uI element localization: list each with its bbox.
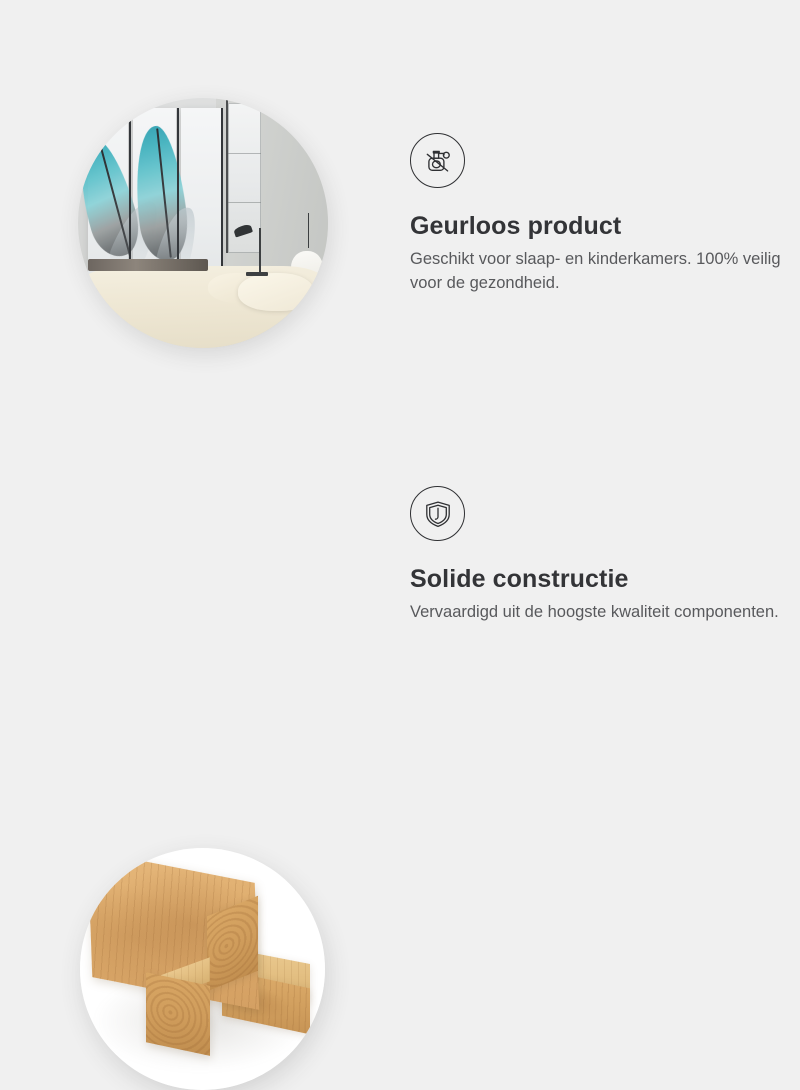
wood-block-small-front [146, 972, 210, 1056]
window-frame [226, 98, 228, 253]
shield-icon [410, 486, 465, 541]
feature-title: Geurloos product [410, 212, 800, 241]
wood-grain-surface [146, 972, 210, 1056]
panel-edge-3 [221, 108, 223, 288]
feature-media [0, 400, 400, 800]
feature-title: Solide constructie [410, 565, 800, 594]
bedroom-photo-content [78, 98, 328, 348]
pillow-front [238, 273, 313, 311]
feature-media [0, 0, 400, 400]
no-fragrance-icon [410, 133, 465, 188]
feature-row: Geurloos product Geschikt voor slaap- en… [0, 0, 800, 400]
feature-row: Solide constructie Vervaardigd uit de ho… [0, 400, 800, 800]
wall-lamp-stem [308, 213, 310, 248]
desk-lamp-base [246, 272, 269, 276]
desk-lamp-arm [259, 228, 261, 273]
product-features-page: Geurloos product Geschikt voor slaap- en… [0, 0, 800, 800]
feature-text-block: Geurloos product Geschikt voor slaap- en… [400, 0, 800, 295]
bedroom-with-teal-feather-wall-art-image [78, 98, 328, 348]
feature-text-block: Solide constructie Vervaardigd uit de ho… [400, 400, 800, 624]
feature-description: Geschikt voor slaap- en kinderkamers. 10… [410, 247, 800, 295]
bed-bench [88, 259, 208, 270]
feature-description: Vervaardigd uit de hoogste kwaliteit com… [410, 600, 800, 624]
stacked-wooden-blocks-image [80, 848, 325, 1090]
wooden-blocks-photo-content [80, 848, 325, 1090]
